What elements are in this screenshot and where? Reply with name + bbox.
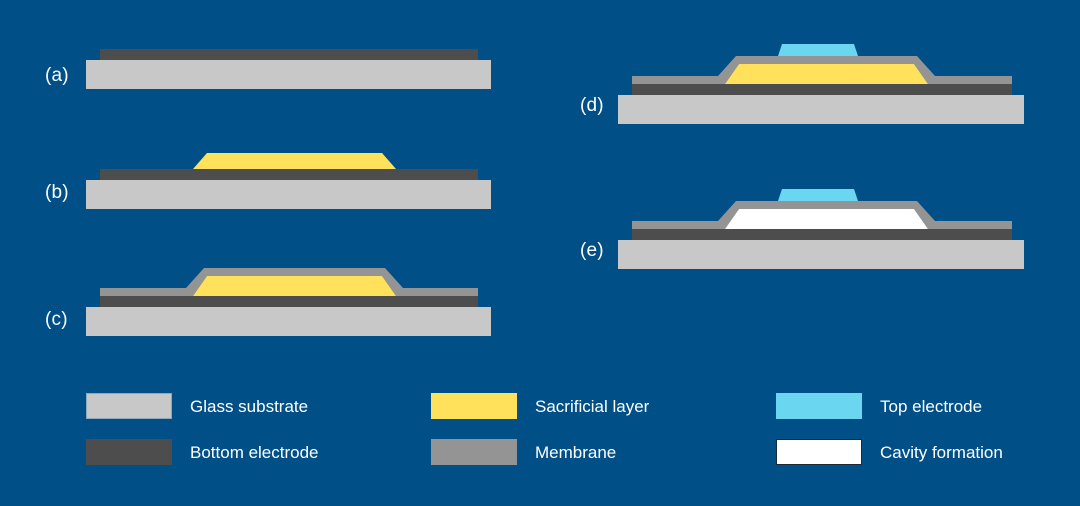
legend: Glass substrate Bottom electrode Sacrifi… [86,390,1036,470]
legend-label-cavity-formation: Cavity formation [880,444,1003,461]
legend-label-sacrificial-layer: Sacrificial layer [535,398,649,415]
legend-swatch-top-electrode [776,393,862,419]
legend-item-top-electrode: Top electrode [776,393,982,419]
glass-substrate-layer [618,240,1024,269]
figure-root: (a) (b) (c) (d) (e) [0,0,1080,506]
legend-swatch-cavity-formation [776,439,862,465]
legend-item-sacrificial-layer: Sacrificial layer [431,393,649,419]
legend-swatch-glass-substrate [86,393,172,419]
panel-d-diagram [618,38,1030,120]
panel-label-b: (b) [45,183,69,202]
panel-e-diagram [618,183,1030,265]
legend-label-top-electrode: Top electrode [880,398,982,415]
legend-label-membrane: Membrane [535,444,616,461]
glass-substrate-layer [86,307,491,336]
legend-item-cavity-formation: Cavity formation [776,439,1003,465]
bottom-electrode-layer [100,296,478,307]
legend-item-glass-substrate: Glass substrate [86,393,308,419]
glass-substrate-layer [86,180,491,209]
panel-label-d: (d) [580,96,604,115]
glass-substrate-layer [618,95,1024,124]
bottom-electrode-layer [100,169,478,180]
legend-label-bottom-electrode: Bottom electrode [190,444,319,461]
sacrificial-layer-trapezoid [193,276,396,296]
bottom-electrode-layer [632,229,1012,240]
panel-b-diagram [86,148,496,210]
bottom-electrode-layer [632,84,1012,95]
panel-label-c: (c) [45,310,68,329]
sacrificial-layer-trapezoid [725,64,928,84]
legend-swatch-bottom-electrode [86,439,172,465]
panel-label-e: (e) [580,241,604,260]
legend-item-membrane: Membrane [431,439,616,465]
legend-swatch-sacrificial-layer [431,393,517,419]
panel-a-diagram [86,44,496,90]
sacrificial-layer-trapezoid-front [193,153,396,169]
panel-c-diagram [86,264,496,334]
legend-item-bottom-electrode: Bottom electrode [86,439,319,465]
bottom-electrode-layer [100,49,478,60]
cavity-formation-region [725,209,928,229]
legend-swatch-membrane [431,439,517,465]
panel-label-a: (a) [45,66,69,85]
glass-substrate-layer [86,60,491,89]
legend-label-glass-substrate: Glass substrate [190,398,308,415]
